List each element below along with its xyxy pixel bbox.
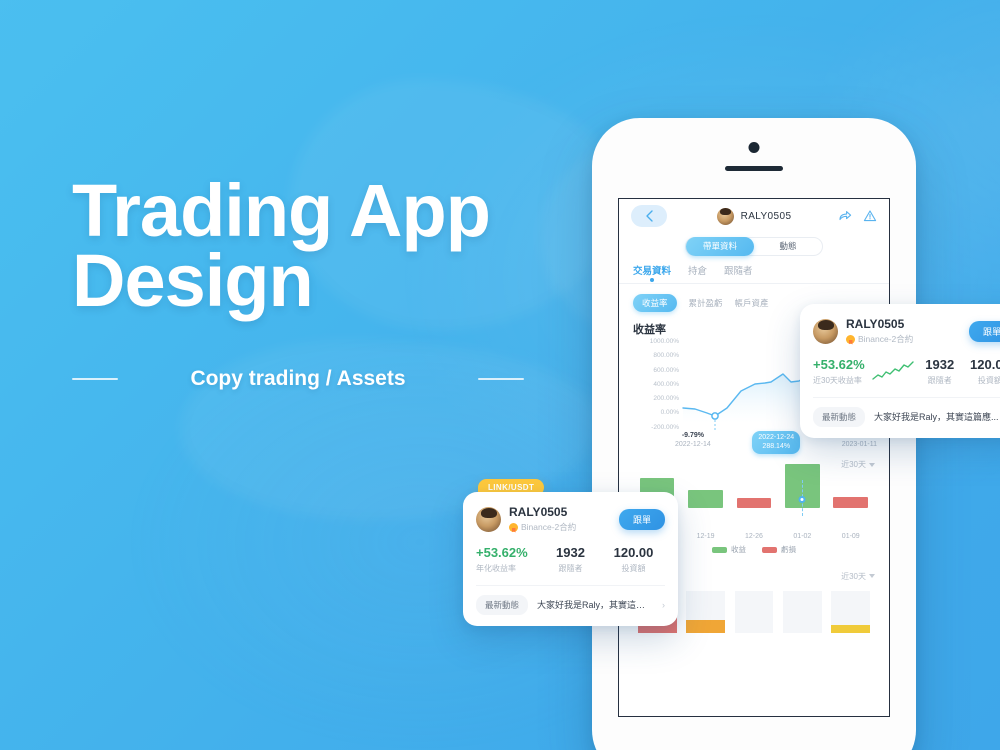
copy-trade-button[interactable]: 跟單 [969, 321, 1000, 342]
page-title: Trading App Design [72, 176, 592, 317]
latest-post-chip: 最新動態 [476, 595, 528, 615]
card-header: RALY0505 Binance-2合約 跟單 [813, 317, 1000, 345]
risk-range-selector[interactable]: 近30天 [841, 571, 875, 582]
y-axis-ticks: 1000.00% 800.00% 600.00% 400.00% 200.00%… [629, 339, 679, 431]
segmented-control: 帶單資料 動態 [685, 237, 823, 256]
chevron-left-icon [645, 210, 654, 222]
bar-range-label: 近30天 [841, 459, 866, 470]
latest-post-message: 大家好我是Raly，其實這篇應... [537, 598, 653, 611]
trader-card-left[interactable]: RALY0505 Binance-2合約 跟單 +53.62% 年化收益率 19… [463, 492, 678, 626]
legend-swatch [712, 547, 727, 553]
hero-subtitle: Copy trading / Assets [132, 367, 464, 391]
pill-account-assets[interactable]: 帳戶資產 [735, 297, 769, 309]
risk-column [831, 591, 870, 633]
sparkline-icon [871, 360, 915, 382]
y-tick: 1000.00% [629, 339, 679, 346]
y-tick: 400.00% [629, 382, 679, 389]
legend-label: 虧損 [781, 544, 796, 555]
risk-column [735, 591, 774, 633]
point-label-highlighted: 2022-12-24 288.14% [752, 431, 800, 454]
bar-selected-marker [799, 496, 806, 503]
avatar [813, 319, 838, 344]
trader-name: RALY0505 [509, 505, 576, 520]
y-tick: -200.00% [629, 425, 679, 432]
divider-left [72, 378, 118, 380]
copy-trade-button[interactable]: 跟單 [619, 509, 665, 530]
x-tick: 01-02 [782, 533, 823, 540]
bar-loss [833, 497, 868, 508]
x-tick: 01-09 [830, 533, 871, 540]
chevron-down-icon [869, 463, 875, 467]
card-header: RALY0505 Binance-2合約 跟單 [476, 505, 665, 533]
y-tick: 0.00% [629, 410, 679, 417]
bar-profit [688, 490, 723, 508]
latest-post-message: 大家好我是Raly，其實這篇應... [874, 410, 1000, 423]
bar-range-selector[interactable]: 近30天 [841, 459, 875, 470]
y-tick: 200.00% [629, 396, 679, 403]
speaker-grill [725, 166, 783, 171]
y-tick: 600.00% [629, 368, 679, 375]
tab-followers[interactable]: 跟隨者 [724, 263, 753, 283]
legend-label: 收益 [731, 544, 746, 555]
app-topbar: RALY0505 [619, 199, 889, 233]
bar-loss [737, 498, 772, 508]
y-tick: 800.00% [629, 353, 679, 360]
segmented-control-wrap: 帶單資料 動態 [619, 237, 889, 256]
bar-column [685, 476, 726, 524]
trader-exchange: Binance-2合約 [846, 333, 913, 345]
pill-cumulative-pnl[interactable]: 累計盈虧 [689, 297, 723, 309]
card-stats: +53.62% 近30天收益率 1932 跟隨者 120.00 投資額 [813, 357, 1000, 386]
legend-swatch [762, 547, 777, 553]
stat-followers: 1932 跟隨者 [915, 357, 965, 386]
topbar-actions [838, 209, 877, 223]
trader-card-right[interactable]: RALY0505 Binance-2合約 跟單 +53.62% 近30天收益率 … [800, 304, 1000, 438]
latest-post-chip: 最新動態 [813, 407, 865, 427]
camera-dot-icon [749, 142, 760, 153]
hero-copy: Trading App Design Copy trading / Assets [72, 176, 592, 391]
divider-right [478, 378, 524, 380]
back-button[interactable] [631, 205, 667, 227]
sub-tabs: 交易資料 持倉 跟隨者 [619, 256, 889, 284]
legend-item-profit: 收益 [712, 544, 746, 555]
trader-name: RALY0505 [846, 317, 913, 332]
tab-trade-data[interactable]: 交易資料 [633, 263, 671, 283]
card-stats: +53.62% 年化收益率 1932 跟隨者 120.00 投資額 [476, 545, 665, 574]
chevron-right-icon: › [662, 600, 665, 610]
risk-column [783, 591, 822, 633]
avatar [476, 507, 501, 532]
bar-column [782, 476, 823, 524]
x-tick: 12-19 [685, 533, 726, 540]
bar-column [733, 476, 774, 524]
risk-range-label: 近30天 [841, 571, 866, 582]
pill-return-rate[interactable]: 收益率 [633, 294, 677, 312]
stat-return-rate: +53.62% 近30天收益率 [813, 357, 915, 386]
hero-subtitle-row: Copy trading / Assets [72, 367, 524, 391]
stat-investment: 120.00 投資額 [602, 545, 665, 574]
stat-return-rate: +53.62% 年化收益率 [476, 545, 539, 574]
bar-column [830, 476, 871, 524]
warning-triangle-icon[interactable] [863, 209, 877, 223]
topbar-username: RALY0505 [741, 211, 792, 222]
phone-screen: RALY0505 帶單資料 動態 交易資料 持倉 [618, 198, 890, 717]
risk-column [686, 591, 725, 633]
segment-daidan[interactable]: 帶單資料 [686, 237, 754, 256]
share-icon[interactable] [838, 209, 852, 223]
avatar [717, 208, 734, 225]
x-tick: 12-26 [733, 533, 774, 540]
stat-followers: 1932 跟隨者 [539, 545, 602, 574]
point-label: -9.79% 2022-12-14 [675, 431, 711, 454]
segment-dongtai[interactable]: 動態 [754, 238, 822, 255]
legend-item-loss: 虧損 [762, 544, 796, 555]
chevron-down-icon [869, 574, 875, 578]
medal-icon [846, 335, 855, 344]
medal-icon [509, 523, 518, 532]
trader-exchange: Binance-2合約 [509, 521, 576, 533]
card-footer[interactable]: 最新動態 大家好我是Raly，其實這篇應... › [813, 397, 1000, 427]
card-footer[interactable]: 最新動態 大家好我是Raly，其實這篇應... › [476, 585, 665, 615]
tab-positions[interactable]: 持倉 [688, 263, 707, 283]
stat-investment: 120.00 投資額 [965, 357, 1000, 386]
